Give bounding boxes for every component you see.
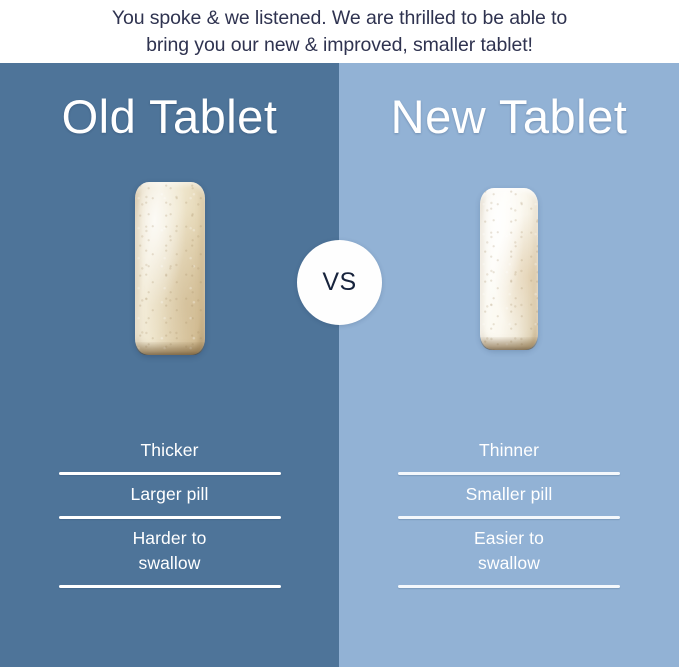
pill-texture-overlay bbox=[135, 182, 205, 355]
feature-label: Harder to swallow bbox=[59, 519, 281, 585]
feature-divider bbox=[59, 585, 281, 588]
pill-texture-overlay bbox=[480, 188, 538, 350]
new-tablet-pill bbox=[480, 188, 538, 350]
list-item: Easier to swallow bbox=[398, 519, 620, 588]
new-tablet-title: New Tablet bbox=[339, 89, 679, 145]
header-line-2: bring you our new & improved, smaller ta… bbox=[146, 32, 533, 59]
list-item: Thinner bbox=[398, 431, 620, 475]
feature-label: Thicker bbox=[59, 431, 281, 472]
old-tablet-title: Old Tablet bbox=[0, 89, 339, 145]
feature-label: Easier to swallow bbox=[398, 519, 620, 585]
feature-divider bbox=[398, 585, 620, 588]
versus-label: VS bbox=[322, 268, 356, 297]
feature-label: Larger pill bbox=[59, 475, 281, 516]
new-tablet-panel: New Tablet Thinner Smaller pill Easier t… bbox=[339, 63, 679, 667]
feature-label: Thinner bbox=[398, 431, 620, 472]
old-tablet-feature-list: Thicker Larger pill Harder to swallow bbox=[0, 431, 339, 588]
comparison-infographic: You spoke & we listened. We are thrilled… bbox=[0, 0, 679, 667]
pill-bottom-bevel bbox=[135, 342, 205, 355]
old-tablet-pill bbox=[135, 182, 205, 355]
new-tablet-pill-area bbox=[339, 173, 679, 373]
list-item: Thicker bbox=[59, 431, 281, 475]
header-banner: You spoke & we listened. We are thrilled… bbox=[0, 0, 679, 63]
old-tablet-pill-area bbox=[0, 173, 339, 373]
new-tablet-feature-list: Thinner Smaller pill Easier to swallow bbox=[339, 431, 679, 588]
versus-badge: VS bbox=[297, 240, 382, 325]
old-tablet-panel: Old Tablet Thicker Larger pill Harder to… bbox=[0, 63, 339, 667]
pill-bottom-bevel bbox=[480, 337, 538, 350]
list-item: Harder to swallow bbox=[59, 519, 281, 588]
feature-label: Smaller pill bbox=[398, 475, 620, 516]
header-line-1: You spoke & we listened. We are thrilled… bbox=[112, 5, 567, 32]
list-item: Larger pill bbox=[59, 475, 281, 519]
list-item: Smaller pill bbox=[398, 475, 620, 519]
